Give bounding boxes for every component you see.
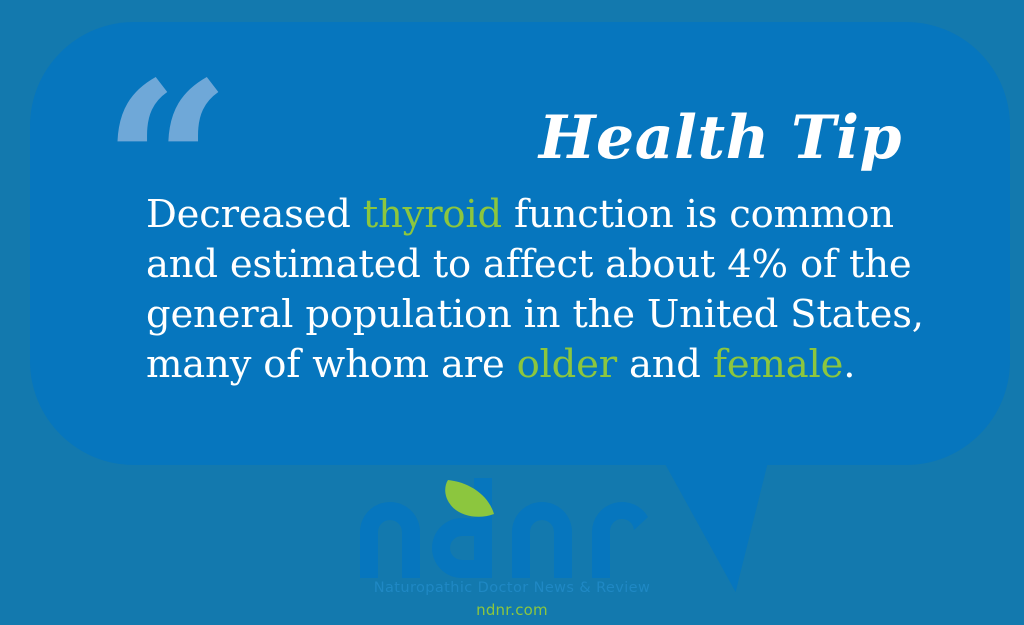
quote-segment-accent: female [713,342,843,387]
speech-bubble: “ Health Tip Decreased thyroid function … [30,22,1010,465]
quote-line: and estimated to affect about 4% of the [146,240,946,290]
quote-line: Decreased thyroid function is common [146,190,946,240]
quote-segment: many of whom are [146,342,517,387]
quote-segment: and [617,342,713,387]
quote-segment: function is common [502,192,894,237]
ndnr-logo: Naturopathic Doctor News & Review ndnr.c… [0,470,1024,625]
quote-segment: general population in the United States, [146,292,924,337]
logo-url: ndnr.com [0,601,1024,619]
ndnr-wordmark-icon [352,470,672,578]
quote-segment: . [843,342,855,387]
health-tip-graphic: “ Health Tip Decreased thyroid function … [0,0,1024,625]
quote-segment-accent: older [517,342,617,387]
quote-segment-accent: thyroid [363,192,502,237]
quote-line: general population in the United States, [146,290,946,340]
page-title: Health Tip [539,108,902,168]
quote-line: many of whom are older and female. [146,340,946,390]
quote-segment: and estimated to affect about 4% of the [146,242,911,287]
quote-segment: Decreased [146,192,363,237]
logo-tagline: Naturopathic Doctor News & Review [0,580,1024,596]
quote-text: Decreased thyroid function is common and… [146,190,946,390]
